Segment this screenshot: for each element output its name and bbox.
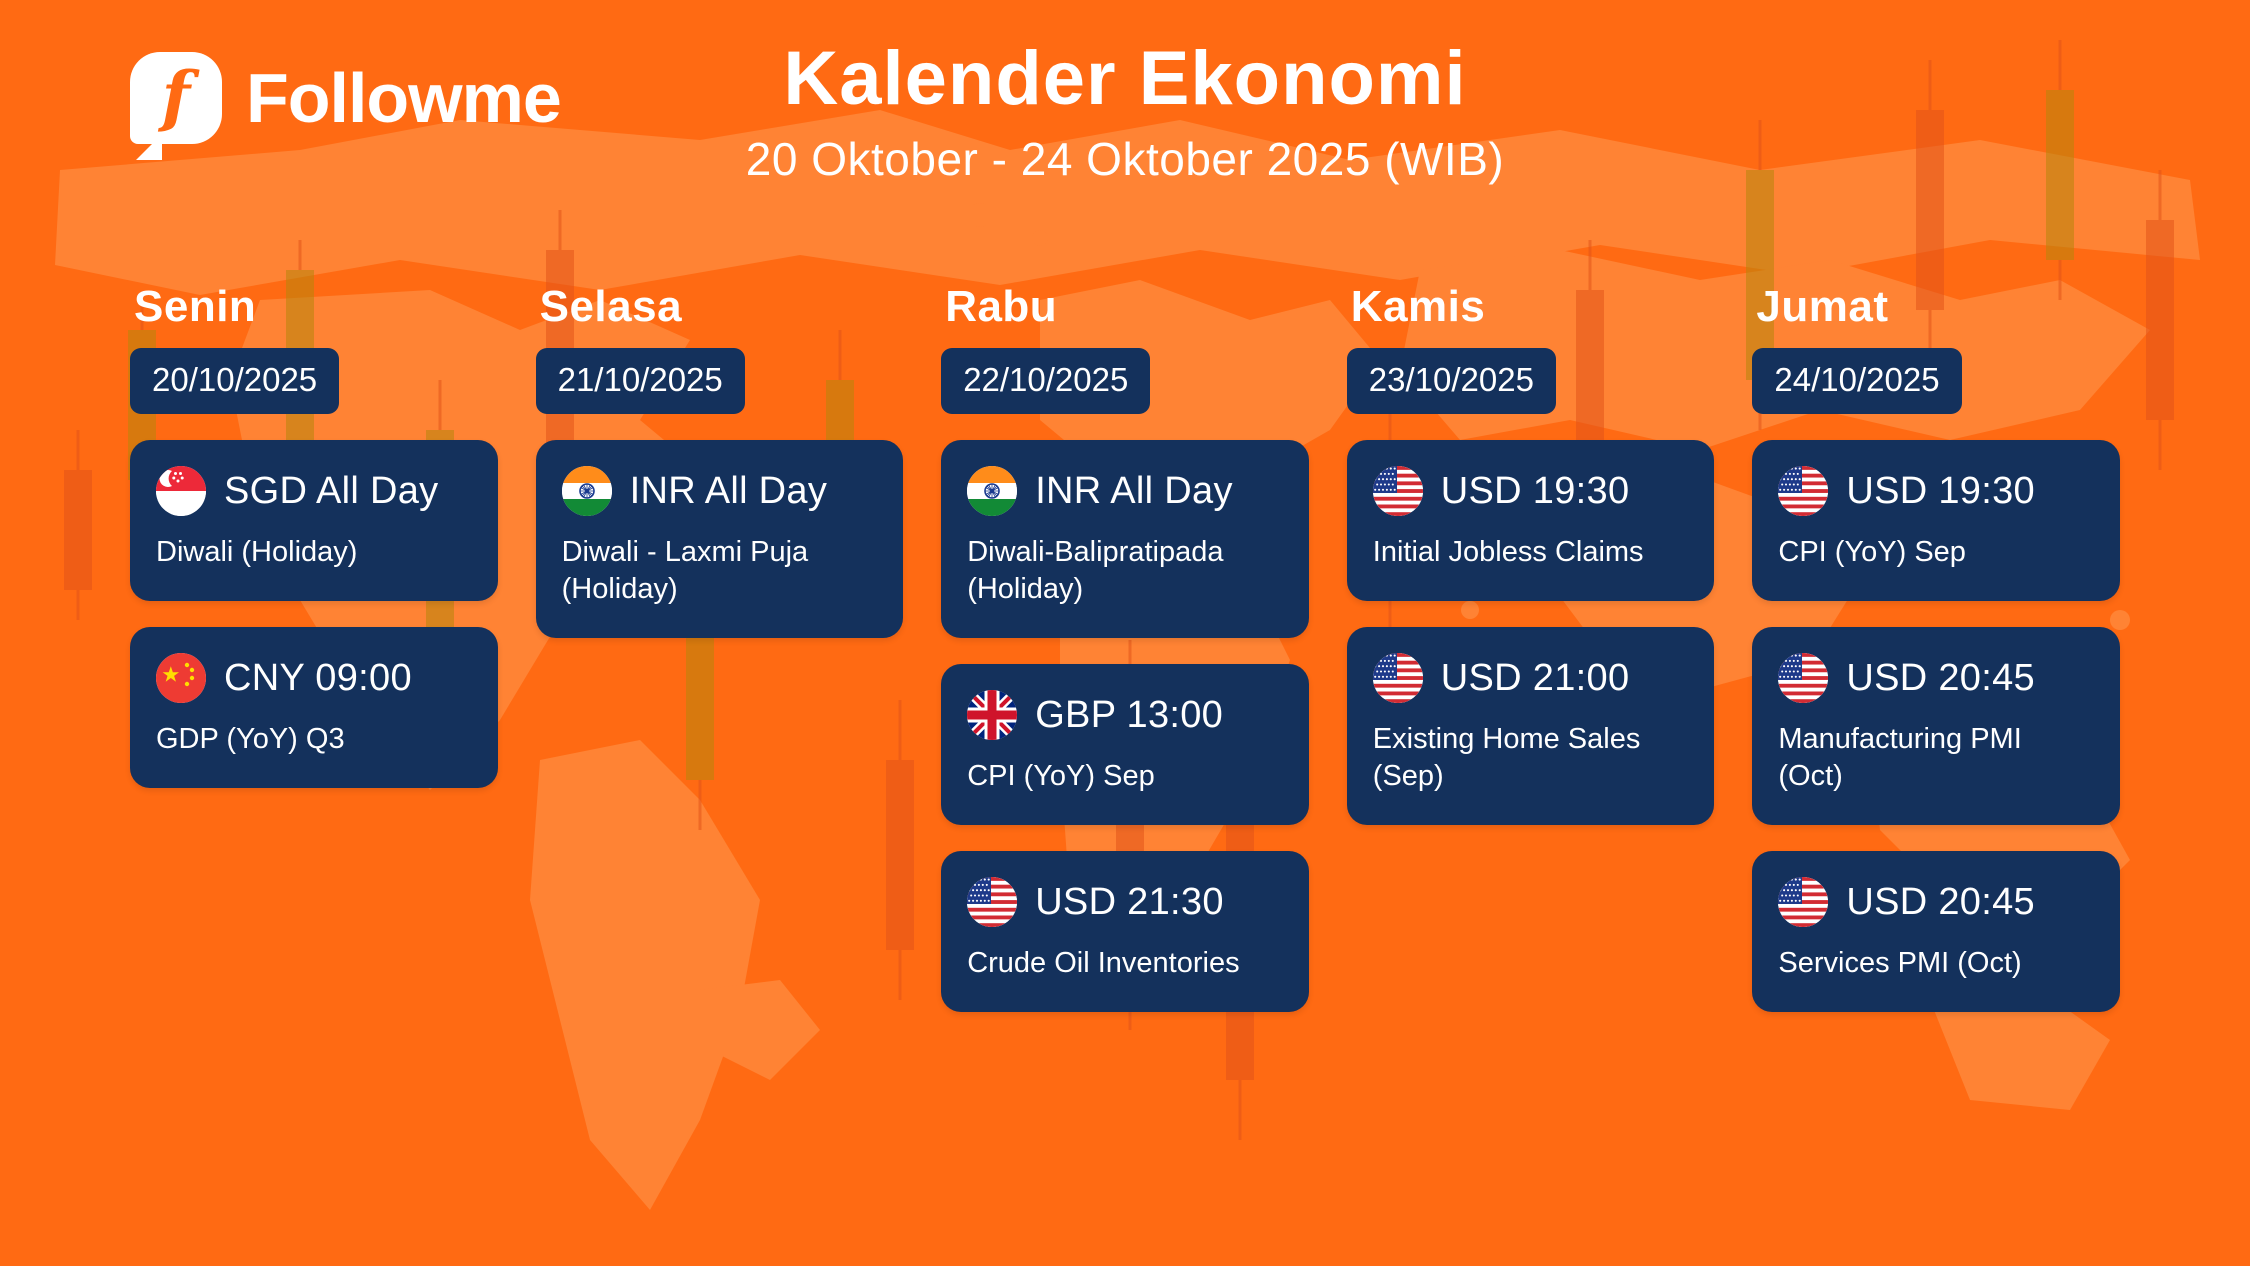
poster-header: f Followme Kalender Ekonomi 20 Oktober -… — [0, 0, 2250, 260]
page-title: Kalender Ekonomi — [0, 38, 2250, 120]
event-card-list: USD 19:30CPI (YoY) Sep USD 20:45Manufact… — [1752, 440, 2120, 1012]
event-description: CPI (YoY) Sep — [1778, 534, 2094, 571]
event-currency-time: USD 21:30 — [1035, 881, 1224, 924]
day-name-label: Senin — [130, 282, 498, 332]
event-card-header: CNY 09:00 — [156, 653, 472, 703]
event-description: Crude Oil Inventories — [967, 945, 1283, 982]
event-description: Initial Jobless Claims — [1373, 534, 1689, 571]
event-card-header: GBP 13:00 — [967, 690, 1283, 740]
event-currency-time: USD 19:30 — [1441, 470, 1630, 513]
event-card[interactable]: USD 20:45Services PMI (Oct) — [1752, 851, 2120, 1012]
date-badge: 20/10/2025 — [130, 348, 339, 414]
event-card-header: USD 20:45 — [1778, 653, 2094, 703]
event-currency-time: USD 20:45 — [1846, 881, 2035, 924]
united-states-flag-icon — [1373, 466, 1423, 516]
china-flag-icon — [156, 653, 206, 703]
week-grid: Senin20/10/2025 SGD All DayDiwali (Holid… — [130, 282, 2120, 1012]
event-card-list: SGD All DayDiwali (Holiday) CNY 09:00GDP… — [130, 440, 498, 788]
title-block: Kalender Ekonomi 20 Oktober - 24 Oktober… — [0, 38, 2250, 186]
day-column-rabu: Rabu22/10/2025 INR All DayDiwali-Balipra… — [941, 282, 1309, 1012]
singapore-flag-icon — [156, 466, 206, 516]
event-card-header: USD 20:45 — [1778, 877, 2094, 927]
page-subtitle: 20 Oktober - 24 Oktober 2025 (WIB) — [0, 132, 2250, 186]
event-card-header: INR All Day — [562, 466, 878, 516]
united-kingdom-flag-icon — [967, 690, 1017, 740]
india-flag-icon — [967, 466, 1017, 516]
day-name-label: Kamis — [1347, 282, 1715, 332]
united-states-flag-icon — [1778, 653, 1828, 703]
event-card[interactable]: USD 21:30Crude Oil Inventories — [941, 851, 1309, 1012]
event-currency-time: USD 19:30 — [1846, 470, 2035, 513]
day-name-label: Jumat — [1752, 282, 2120, 332]
day-name-label: Rabu — [941, 282, 1309, 332]
event-currency-time: GBP 13:00 — [1035, 694, 1223, 737]
united-states-flag-icon — [1778, 466, 1828, 516]
economic-calendar-poster: f Followme Kalender Ekonomi 20 Oktober -… — [0, 0, 2250, 1266]
day-column-selasa: Selasa21/10/2025 INR All DayDiwali - Lax… — [536, 282, 904, 1012]
event-card[interactable]: INR All DayDiwali - Laxmi Puja (Holiday) — [536, 440, 904, 638]
united-states-flag-icon — [1373, 653, 1423, 703]
event-card-header: SGD All Day — [156, 466, 472, 516]
event-card-list: USD 19:30Initial Jobless Claims USD 21:0… — [1347, 440, 1715, 825]
event-card[interactable]: CNY 09:00GDP (YoY) Q3 — [130, 627, 498, 788]
event-currency-time: USD 20:45 — [1846, 657, 2035, 700]
event-description: CPI (YoY) Sep — [967, 758, 1283, 795]
event-card[interactable]: INR All DayDiwali-Balipratipada (Holiday… — [941, 440, 1309, 638]
event-card-list: INR All DayDiwali - Laxmi Puja (Holiday) — [536, 440, 904, 638]
event-card-header: USD 21:00 — [1373, 653, 1689, 703]
date-badge: 23/10/2025 — [1347, 348, 1556, 414]
event-card-header: USD 21:30 — [967, 877, 1283, 927]
event-currency-time: INR All Day — [630, 470, 828, 513]
date-badge: 21/10/2025 — [536, 348, 745, 414]
event-description: Diwali - Laxmi Puja (Holiday) — [562, 534, 878, 608]
event-description: Diwali (Holiday) — [156, 534, 472, 571]
united-states-flag-icon — [1778, 877, 1828, 927]
event-card[interactable]: USD 19:30Initial Jobless Claims — [1347, 440, 1715, 601]
event-currency-time: INR All Day — [1035, 470, 1233, 513]
event-card-list: INR All DayDiwali-Balipratipada (Holiday… — [941, 440, 1309, 1012]
day-column-kamis: Kamis23/10/2025 USD 19:30Initial Jobless… — [1347, 282, 1715, 1012]
event-card-header: USD 19:30 — [1373, 466, 1689, 516]
event-description: Manufacturing PMI (Oct) — [1778, 721, 2094, 795]
date-badge: 22/10/2025 — [941, 348, 1150, 414]
event-description: Existing Home Sales (Sep) — [1373, 721, 1689, 795]
event-description: Services PMI (Oct) — [1778, 945, 2094, 982]
day-column-jumat: Jumat24/10/2025 USD 19:30CPI (YoY) Sep — [1752, 282, 2120, 1012]
event-card[interactable]: USD 20:45Manufacturing PMI (Oct) — [1752, 627, 2120, 825]
event-currency-time: USD 21:00 — [1441, 657, 1630, 700]
event-card-header: USD 19:30 — [1778, 466, 2094, 516]
event-card[interactable]: SGD All DayDiwali (Holiday) — [130, 440, 498, 601]
united-states-flag-icon — [967, 877, 1017, 927]
day-name-label: Selasa — [536, 282, 904, 332]
date-badge: 24/10/2025 — [1752, 348, 1961, 414]
event-currency-time: SGD All Day — [224, 470, 438, 513]
event-card[interactable]: USD 19:30CPI (YoY) Sep — [1752, 440, 2120, 601]
india-flag-icon — [562, 466, 612, 516]
event-card-header: INR All Day — [967, 466, 1283, 516]
day-column-senin: Senin20/10/2025 SGD All DayDiwali (Holid… — [130, 282, 498, 1012]
event-description: Diwali-Balipratipada (Holiday) — [967, 534, 1283, 608]
event-description: GDP (YoY) Q3 — [156, 721, 472, 758]
event-currency-time: CNY 09:00 — [224, 657, 412, 700]
event-card[interactable]: USD 21:00Existing Home Sales (Sep) — [1347, 627, 1715, 825]
event-card[interactable]: GBP 13:00CPI (YoY) Sep — [941, 664, 1309, 825]
